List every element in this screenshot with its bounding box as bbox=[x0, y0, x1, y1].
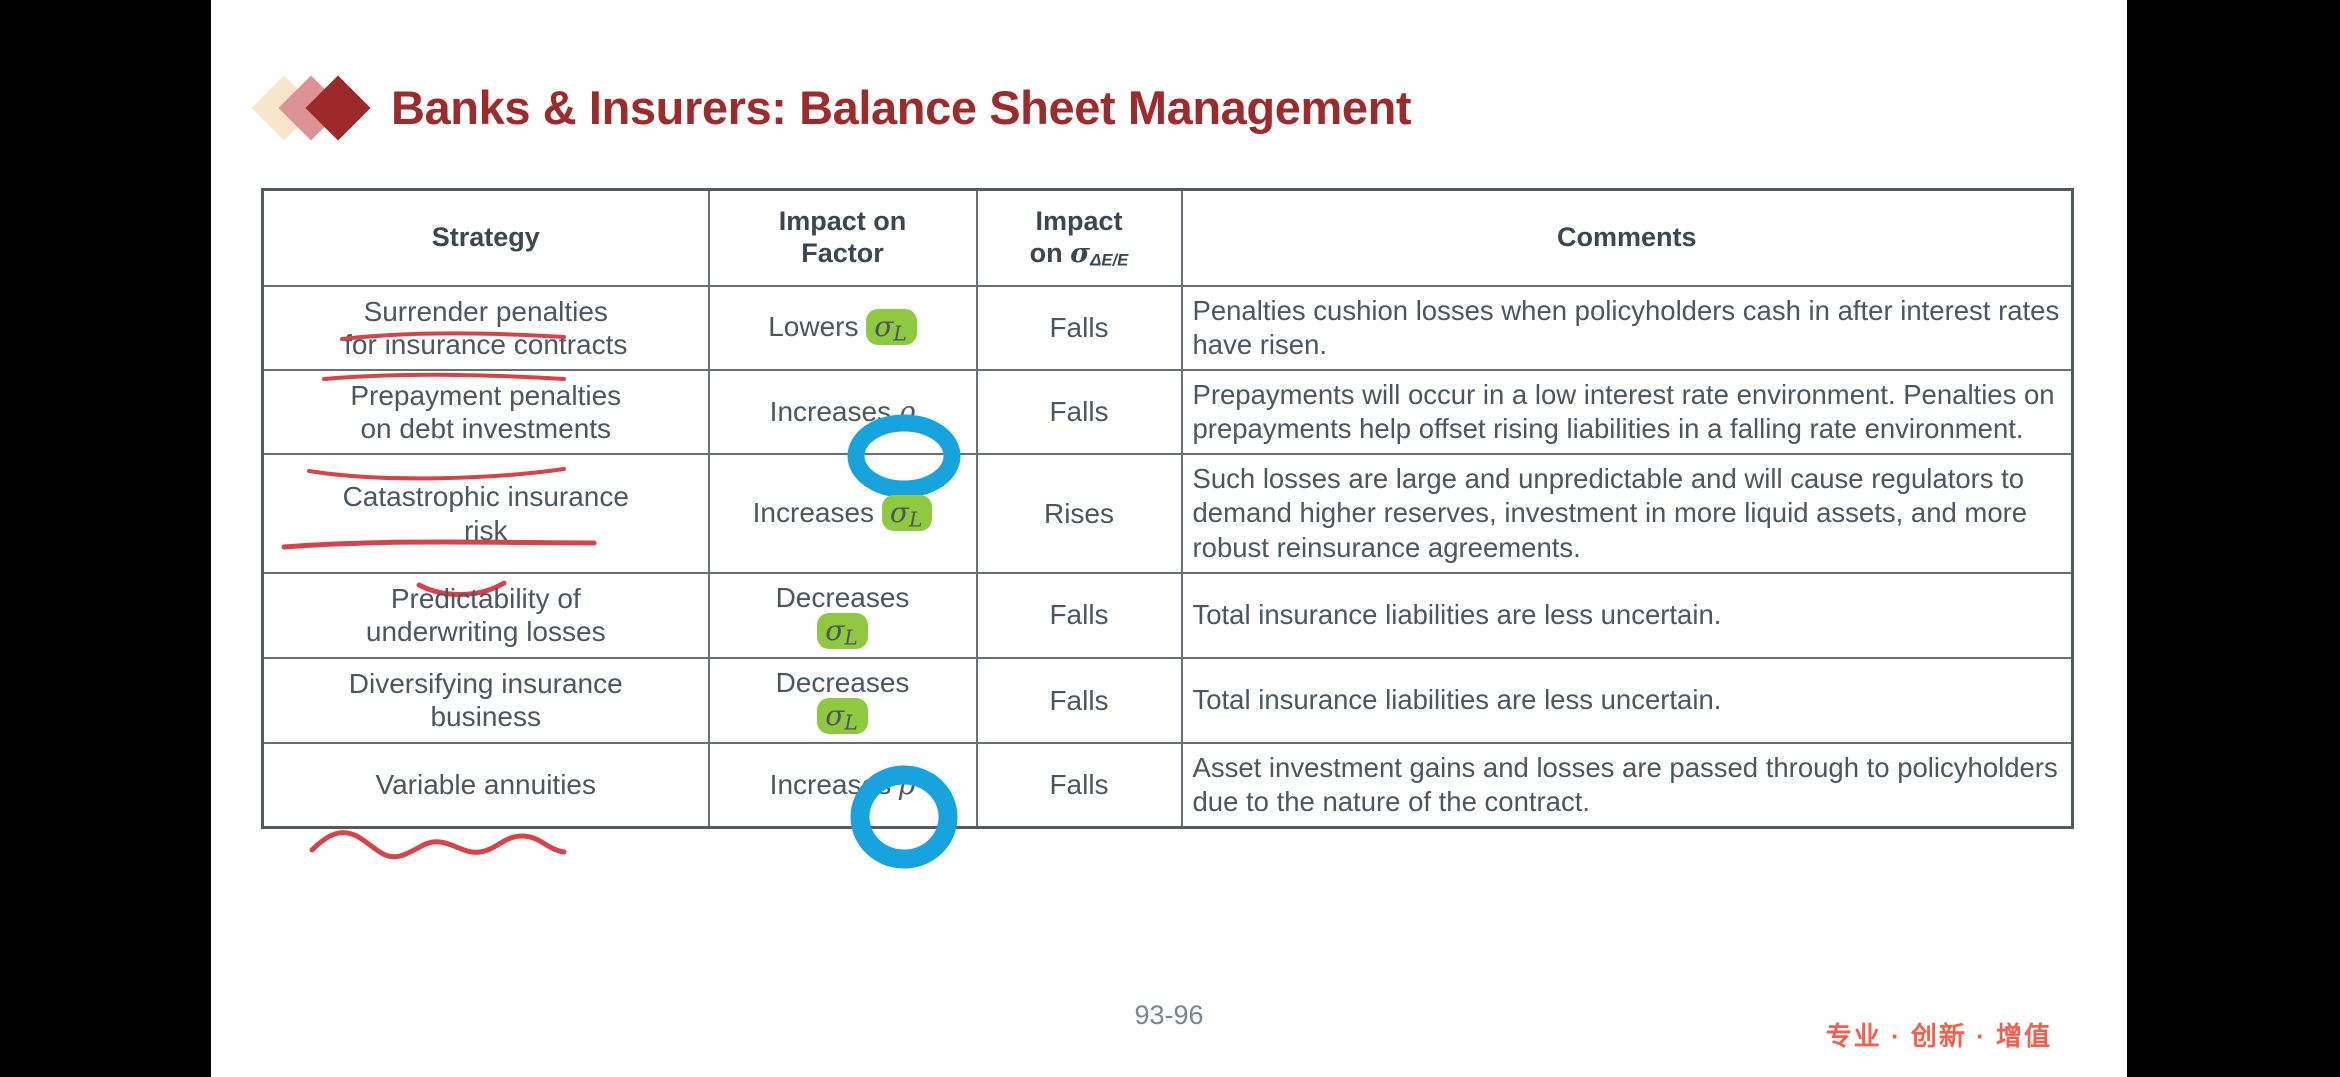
cell-impact-on-sigma: Falls bbox=[977, 286, 1182, 370]
table-row: Catastrophic insurance risk Increases σL… bbox=[263, 454, 2073, 572]
strategy-line-1: Variable annuities bbox=[375, 769, 596, 800]
factor-verb: Increases bbox=[770, 769, 891, 800]
cell-impact-on-factor: Increases ρ bbox=[709, 370, 977, 454]
cell-impact-on-sigma: Falls bbox=[977, 573, 1182, 658]
cell-strategy: Surrender penalties for insurance contra… bbox=[263, 286, 709, 370]
strategy-line-2: for insurance contracts bbox=[344, 329, 627, 360]
cell-impact-on-sigma: Falls bbox=[977, 658, 1182, 743]
factor-subscript: L bbox=[909, 507, 922, 531]
factor-symbol: σ bbox=[874, 310, 893, 343]
cell-comments: Prepayments will occur in a low interest… bbox=[1182, 370, 2073, 454]
factor-verb: Lowers bbox=[768, 311, 858, 342]
cell-comments: Asset investment gains and losses are pa… bbox=[1182, 743, 2073, 828]
brand-tagline: 专业 · 创新 · 增值 bbox=[1826, 1016, 2052, 1053]
cell-impact-on-factor: Decreases σL bbox=[709, 573, 977, 658]
factor-symbol: σ bbox=[825, 614, 844, 647]
green-highlight-annotation: σL bbox=[882, 495, 933, 531]
slide-canvas: Banks & Insurers: Balance Sheet Manageme… bbox=[211, 0, 2127, 1077]
column-header-impact-on-sigma: Impact on σΔE/E bbox=[977, 190, 1182, 287]
factor-subscript: L bbox=[893, 322, 906, 346]
cell-comments: Total insurance liabilities are less unc… bbox=[1182, 658, 2073, 743]
cell-impact-on-sigma: Falls bbox=[977, 743, 1182, 828]
green-highlight-annotation: σL bbox=[866, 309, 917, 345]
slide-title-row: Banks & Insurers: Balance Sheet Manageme… bbox=[261, 72, 1411, 142]
strategy-line-1: Catastrophic insurance bbox=[343, 481, 629, 512]
page-title: Banks & Insurers: Balance Sheet Manageme… bbox=[391, 84, 1411, 131]
strategy-line-1: Diversifying insurance bbox=[349, 668, 623, 699]
table-row: Surrender penalties for insurance contra… bbox=[263, 286, 2073, 370]
cell-comments: Total insurance liabilities are less unc… bbox=[1182, 573, 2073, 658]
factor-verb: Decreases bbox=[776, 667, 910, 698]
column-header-strategy: Strategy bbox=[263, 190, 709, 287]
cell-impact-on-factor: Increases ρ bbox=[709, 743, 977, 828]
cell-strategy: Diversifying insurance business bbox=[263, 658, 709, 743]
table-row: Diversifying insurance business Decrease… bbox=[263, 658, 2073, 743]
letterbox-bar-right bbox=[2127, 0, 2340, 1077]
slide-stage: Banks & Insurers: Balance Sheet Manageme… bbox=[0, 0, 2340, 1077]
strategy-line-1: Surrender penalties bbox=[364, 296, 608, 327]
cell-comments: Such losses are large and unpredictable … bbox=[1182, 454, 2073, 572]
sigma-subscript: ΔE/E bbox=[1090, 250, 1128, 269]
green-highlight-annotation: σL bbox=[817, 698, 868, 734]
impact-factor-line-2: Factor bbox=[801, 238, 884, 268]
impact-sigma-line-1: Impact bbox=[1035, 206, 1122, 236]
column-header-comments: Comments bbox=[1182, 190, 2073, 287]
impact-factor-line-1: Impact on bbox=[779, 206, 907, 236]
strategy-line-2: risk bbox=[464, 515, 508, 546]
factor-subscript: L bbox=[844, 711, 857, 735]
factor-symbol: ρ bbox=[899, 768, 915, 801]
strategy-line-2: underwriting losses bbox=[366, 616, 606, 647]
factor-symbol: ρ bbox=[899, 395, 915, 428]
table-row: Prepayment penalties on debt investments… bbox=[263, 370, 2073, 454]
factor-verb: Increases bbox=[753, 497, 874, 528]
strategy-table-container: Strategy Impact on Factor Impact on σΔE/… bbox=[261, 188, 2071, 829]
cell-impact-on-factor: Decreases σL bbox=[709, 658, 977, 743]
factor-symbol: σ bbox=[890, 496, 909, 529]
strategy-line-1: Predictability of bbox=[391, 583, 581, 614]
cell-impact-on-sigma: Falls bbox=[977, 370, 1182, 454]
sigma-symbol: σ bbox=[1070, 238, 1090, 269]
letterbox-bar-left bbox=[0, 0, 211, 1077]
red-wavy-underline-annotation bbox=[264, 744, 710, 874]
cell-strategy: Predictability of underwriting losses bbox=[263, 573, 709, 658]
table-row: Predictability of underwriting losses De… bbox=[263, 573, 2073, 658]
green-highlight-annotation: σL bbox=[817, 613, 868, 649]
column-header-impact-on-factor: Impact on Factor bbox=[709, 190, 977, 287]
strategy-table: Strategy Impact on Factor Impact on σΔE/… bbox=[261, 188, 2074, 829]
strategy-table-body: Surrender penalties for insurance contra… bbox=[263, 286, 2073, 828]
table-row: Variable annuities Increases ρ bbox=[263, 743, 2073, 828]
factor-subscript: L bbox=[844, 626, 857, 650]
strategy-line-2: business bbox=[430, 701, 541, 732]
cell-strategy: Variable annuities bbox=[263, 743, 709, 828]
factor-verb: Decreases bbox=[776, 582, 910, 613]
cell-comments: Penalties cushion losses when policyhold… bbox=[1182, 286, 2073, 370]
cell-impact-on-factor: Lowers σL bbox=[709, 286, 977, 370]
cell-impact-on-sigma: Rises bbox=[977, 454, 1182, 572]
strategy-line-1: Prepayment penalties bbox=[350, 380, 621, 411]
strategy-line-2: on debt investments bbox=[360, 413, 611, 444]
factor-verb: Increases bbox=[770, 396, 891, 427]
cell-strategy: Prepayment penalties on debt investments bbox=[263, 370, 709, 454]
diamond-decoration-icon bbox=[261, 76, 373, 138]
table-header-row: Strategy Impact on Factor Impact on σΔE/… bbox=[263, 190, 2073, 287]
factor-symbol: σ bbox=[825, 699, 844, 732]
impact-sigma-prefix: on bbox=[1030, 238, 1071, 268]
cell-impact-on-factor: Increases σL bbox=[709, 454, 977, 572]
cell-strategy: Catastrophic insurance risk bbox=[263, 454, 709, 572]
